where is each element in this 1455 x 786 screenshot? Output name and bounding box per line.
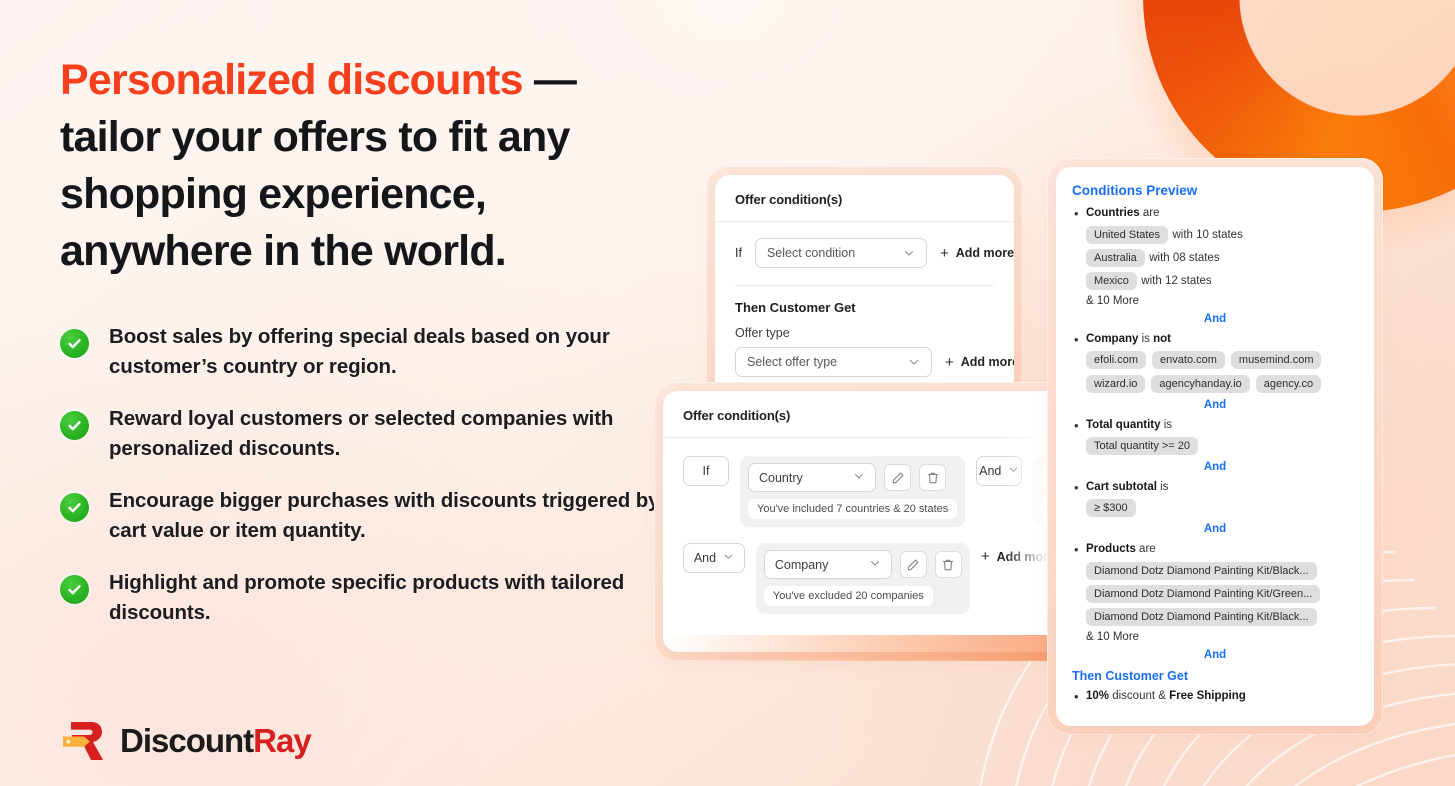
- preview-group-label: Total quantity is: [1072, 419, 1358, 431]
- delete-condition-button[interactable]: [919, 464, 946, 491]
- headline-dash: —: [523, 56, 576, 104]
- subtotal-chip-list: ≥ $300: [1072, 499, 1358, 517]
- list-item-label: Highlight and promote specific products …: [109, 568, 660, 628]
- select-condition-value: Select condition: [767, 246, 855, 260]
- company-chip: musemind.com: [1231, 351, 1322, 369]
- group-verb-bold: not: [1153, 333, 1171, 345]
- preview-group-label: Cart subtotal is: [1072, 481, 1358, 493]
- group-verb: is: [1142, 333, 1154, 345]
- more-products-label: & 10 More: [1072, 631, 1358, 643]
- add-more-label: Add more: [961, 355, 1014, 369]
- plus-icon: +: [945, 355, 954, 370]
- preview-group-cart-subtotal: Cart subtotal is ≥ $300 And: [1072, 481, 1358, 535]
- preview-group-label: Countries are: [1072, 207, 1358, 219]
- list-item: Encourage bigger purchases with discount…: [60, 486, 660, 546]
- offer-conditions-filled-card: Offer condition(s) If Country: [654, 382, 1084, 661]
- preview-country-line: Australia with 08 states: [1072, 248, 1358, 266]
- headline-line-2: tailor your offers to fit any: [60, 113, 570, 161]
- add-more-condition-button[interactable]: + Add more: [940, 246, 1014, 261]
- list-item: Boost sales by offering special deals ba…: [60, 322, 660, 382]
- chevron-down-icon: [903, 247, 915, 259]
- list-item-label: Encourage bigger purchases with discount…: [109, 486, 660, 546]
- company-chip: agency.co: [1256, 375, 1321, 393]
- trash-icon: [926, 471, 940, 485]
- group-name: Company: [1086, 333, 1138, 345]
- product-chip-line: Diamond Dotz Diamond Painting Kit/Green.…: [1072, 584, 1358, 602]
- quantity-chip: Total quantity >= 20: [1086, 437, 1198, 455]
- condition-group-controls: Country: [748, 463, 957, 492]
- plus-icon: +: [940, 246, 949, 261]
- condition-group-company: Company You've excluded 20 companies: [756, 543, 970, 614]
- operator-and-dropdown[interactable]: And: [683, 543, 745, 573]
- check-circle-icon: [60, 329, 89, 358]
- more-countries-label: & 10 More: [1072, 295, 1358, 307]
- operator-and-dropdown[interactable]: And: [976, 456, 1022, 486]
- add-more-label: Add more: [956, 246, 1014, 260]
- company-chip: envato.com: [1152, 351, 1225, 369]
- condition-hint: You've included 7 countries & 20 states: [748, 499, 957, 519]
- then-customer-get-title: Then Customer Get: [735, 300, 994, 315]
- group-verb: is: [1164, 419, 1172, 431]
- headline-line-3: shopping experience,: [60, 170, 486, 218]
- discount-text: discount &: [1109, 690, 1169, 702]
- plus-icon: +: [981, 549, 990, 564]
- card-body: If Select condition + Add more Then Cust…: [715, 222, 1014, 397]
- list-item-label: Boost sales by offering special deals ba…: [109, 322, 660, 382]
- condition-row: And Company: [683, 543, 1055, 614]
- and-separator: And: [1072, 313, 1358, 325]
- if-label: If: [735, 246, 742, 260]
- product-chip: Diamond Dotz Diamond Painting Kit/Green.…: [1086, 585, 1320, 603]
- condition-type-value: Country: [759, 471, 803, 485]
- preview-title: Conditions Preview: [1072, 183, 1358, 198]
- preview-country-line: Mexico with 12 states: [1072, 271, 1358, 289]
- preview-group-label: Products are: [1072, 543, 1358, 555]
- condition-row: If Select condition + Add more: [735, 238, 994, 268]
- and-separator: And: [1072, 399, 1358, 411]
- company-chip: agencyhanday.io: [1151, 375, 1249, 393]
- offer-conditions-empty-card: Offer condition(s) If Select condition +…: [706, 166, 1023, 406]
- condition-type-dropdown[interactable]: Company: [764, 550, 892, 579]
- group-name: Total quantity: [1086, 419, 1161, 431]
- list-item-label: Reward loyal customers or selected compa…: [109, 404, 660, 464]
- country-suffix: with 10 states: [1173, 229, 1243, 241]
- feature-list: Boost sales by offering special deals ba…: [60, 322, 660, 650]
- product-chip-line: Diamond Dotz Diamond Painting Kit/Black.…: [1072, 561, 1358, 579]
- condition-row: If Country Yo: [683, 456, 1055, 527]
- headline-line-4: anywhere in the world.: [60, 227, 506, 275]
- operator-if-button[interactable]: If: [683, 456, 729, 486]
- operator-label: And: [694, 551, 716, 565]
- product-chip: Diamond Dotz Diamond Painting Kit/Black.…: [1086, 608, 1317, 626]
- company-chip: wizard.io: [1086, 375, 1145, 393]
- hero-text-block: Personalized discounts —tailor your offe…: [60, 52, 660, 280]
- free-shipping-label: Free Shipping: [1169, 690, 1246, 702]
- card-surface: Conditions Preview Countries are United …: [1056, 167, 1374, 726]
- group-name: Products: [1086, 543, 1136, 555]
- operator-label: If: [703, 464, 710, 478]
- add-more-condition-button[interactable]: + Add more: [981, 549, 1055, 564]
- chevron-down-icon: [853, 470, 865, 485]
- product-chip: Diamond Dotz Diamond Painting Kit/Black.…: [1086, 562, 1317, 580]
- chevron-down-icon: [1008, 464, 1019, 478]
- logo-name-accent: Ray: [253, 722, 311, 759]
- company-chip: efoli.com: [1086, 351, 1146, 369]
- condition-group-controls: Company: [764, 550, 962, 579]
- select-offer-type-dropdown[interactable]: Select offer type: [735, 347, 932, 377]
- trash-icon: [941, 558, 955, 572]
- offer-type-row: Select offer type + Add more: [735, 347, 994, 377]
- preview-country-line: United States with 10 states: [1072, 225, 1358, 243]
- offer-type-label: Offer type: [735, 326, 994, 340]
- pencil-icon: [906, 558, 920, 572]
- group-verb: are: [1139, 543, 1156, 555]
- check-circle-icon: [60, 411, 89, 440]
- chevron-down-icon: [869, 557, 881, 572]
- card-title: Offer condition(s): [715, 175, 1014, 222]
- select-condition-dropdown[interactable]: Select condition: [755, 238, 927, 268]
- headline-highlight: Personalized discounts: [60, 56, 523, 104]
- card-title: Offer condition(s): [663, 391, 1075, 438]
- condition-type-dropdown[interactable]: Country: [748, 463, 876, 492]
- group-name: Countries: [1086, 207, 1140, 219]
- discountray-logo-icon: [58, 716, 108, 766]
- preview-result-line: 10% discount & Free Shipping: [1072, 690, 1358, 702]
- company-chip-list: efoli.com envato.com musemind.com wizard…: [1072, 351, 1358, 393]
- preview-group-company: Company is not efoli.com envato.com muse…: [1072, 333, 1358, 411]
- pencil-icon: [891, 471, 905, 485]
- condition-type-value: Company: [775, 558, 829, 572]
- card-surface: Offer condition(s) If Select condition +…: [715, 175, 1014, 397]
- add-more-offer-type-button[interactable]: + Add more: [945, 355, 1014, 370]
- country-chip: United States: [1086, 226, 1168, 244]
- discount-percent: 10%: [1086, 690, 1109, 702]
- card-body: If Country Yo: [663, 438, 1075, 652]
- condition-group-country: Country You've included 7 countries & 20…: [740, 456, 965, 527]
- chevron-down-icon: [723, 551, 734, 565]
- brand-logo: DiscountRay: [58, 716, 311, 766]
- divider: [735, 285, 994, 286]
- list-item: Reward loyal customers or selected compa…: [60, 404, 660, 464]
- subtotal-chip: ≥ $300: [1086, 499, 1136, 517]
- card-surface: Offer condition(s) If Country: [663, 391, 1075, 652]
- country-suffix: with 08 states: [1149, 252, 1219, 264]
- country-suffix: with 12 states: [1141, 275, 1211, 287]
- and-separator: And: [1072, 649, 1358, 661]
- edit-condition-button[interactable]: [900, 551, 927, 578]
- logo-wordmark: DiscountRay: [120, 722, 311, 760]
- check-circle-icon: [60, 575, 89, 604]
- operator-label: And: [979, 464, 1001, 478]
- condition-hint: You've excluded 20 companies: [764, 586, 933, 606]
- page-title: Personalized discounts —tailor your offe…: [60, 52, 660, 280]
- check-circle-icon: [60, 493, 89, 522]
- and-separator: And: [1072, 461, 1358, 473]
- preview-group-countries: Countries are United States with 10 stat…: [1072, 207, 1358, 325]
- country-chip: Australia: [1086, 249, 1145, 267]
- preview-then-customer-get-title: Then Customer Get: [1072, 669, 1358, 683]
- chevron-down-icon: [908, 356, 920, 368]
- group-name: Cart subtotal: [1086, 481, 1157, 493]
- conditions-preview-panel: Conditions Preview Countries are United …: [1047, 158, 1383, 735]
- quantity-chip-list: Total quantity >= 20: [1072, 437, 1358, 455]
- country-chip: Mexico: [1086, 272, 1137, 290]
- edit-condition-button[interactable]: [884, 464, 911, 491]
- select-offer-type-value: Select offer type: [747, 355, 837, 369]
- product-chip-line: Diamond Dotz Diamond Painting Kit/Black.…: [1072, 607, 1358, 625]
- preview-group-total-quantity: Total quantity is Total quantity >= 20 A…: [1072, 419, 1358, 473]
- preview-group-label: Company is not: [1072, 333, 1358, 345]
- list-item: Highlight and promote specific products …: [60, 568, 660, 628]
- logo-name-dark: Discount: [120, 722, 253, 759]
- and-separator: And: [1072, 523, 1358, 535]
- delete-condition-button[interactable]: [935, 551, 962, 578]
- group-verb: are: [1143, 207, 1160, 219]
- group-verb: is: [1160, 481, 1168, 493]
- preview-group-products: Products are Diamond Dotz Diamond Painti…: [1072, 543, 1358, 661]
